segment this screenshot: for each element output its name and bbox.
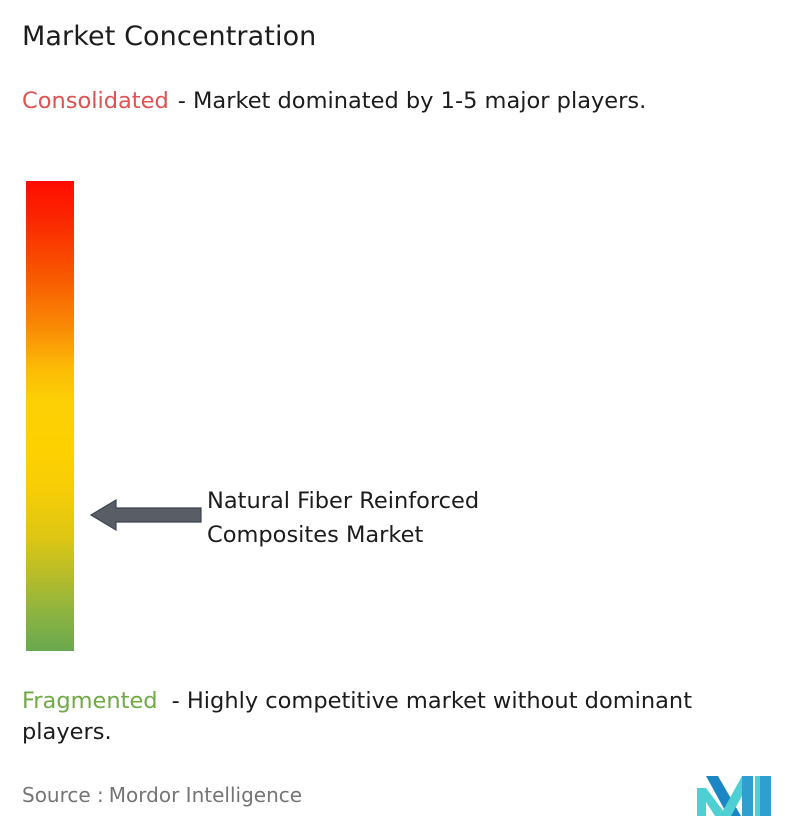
legend-fragmented-keyword: Fragmented bbox=[22, 688, 158, 714]
legend-consolidated: Consolidated- Market dominated by 1-5 ma… bbox=[22, 86, 762, 117]
market-callout-label: Natural Fiber Reinforced Composites Mark… bbox=[207, 484, 637, 552]
source-name: Mordor Intelligence bbox=[109, 783, 302, 807]
page-title: Market Concentration bbox=[22, 20, 316, 54]
left-arrow-icon bbox=[90, 496, 202, 534]
legend-consolidated-description: - Market dominated by 1-5 major players. bbox=[178, 88, 647, 114]
market-concentration-scale-bar bbox=[26, 181, 74, 651]
mordor-intelligence-logo-icon bbox=[697, 772, 771, 816]
source-label: Source : bbox=[22, 783, 104, 807]
legend-consolidated-keyword: Consolidated bbox=[22, 88, 169, 114]
market-callout-label-line-1: Natural Fiber Reinforced bbox=[207, 484, 637, 518]
market-callout-label-line-2: Composites Market bbox=[207, 518, 637, 552]
source-note: Source :Mordor Intelligence bbox=[22, 782, 302, 808]
legend-fragmented: Fragmented- Highly competitive market wi… bbox=[22, 686, 784, 748]
